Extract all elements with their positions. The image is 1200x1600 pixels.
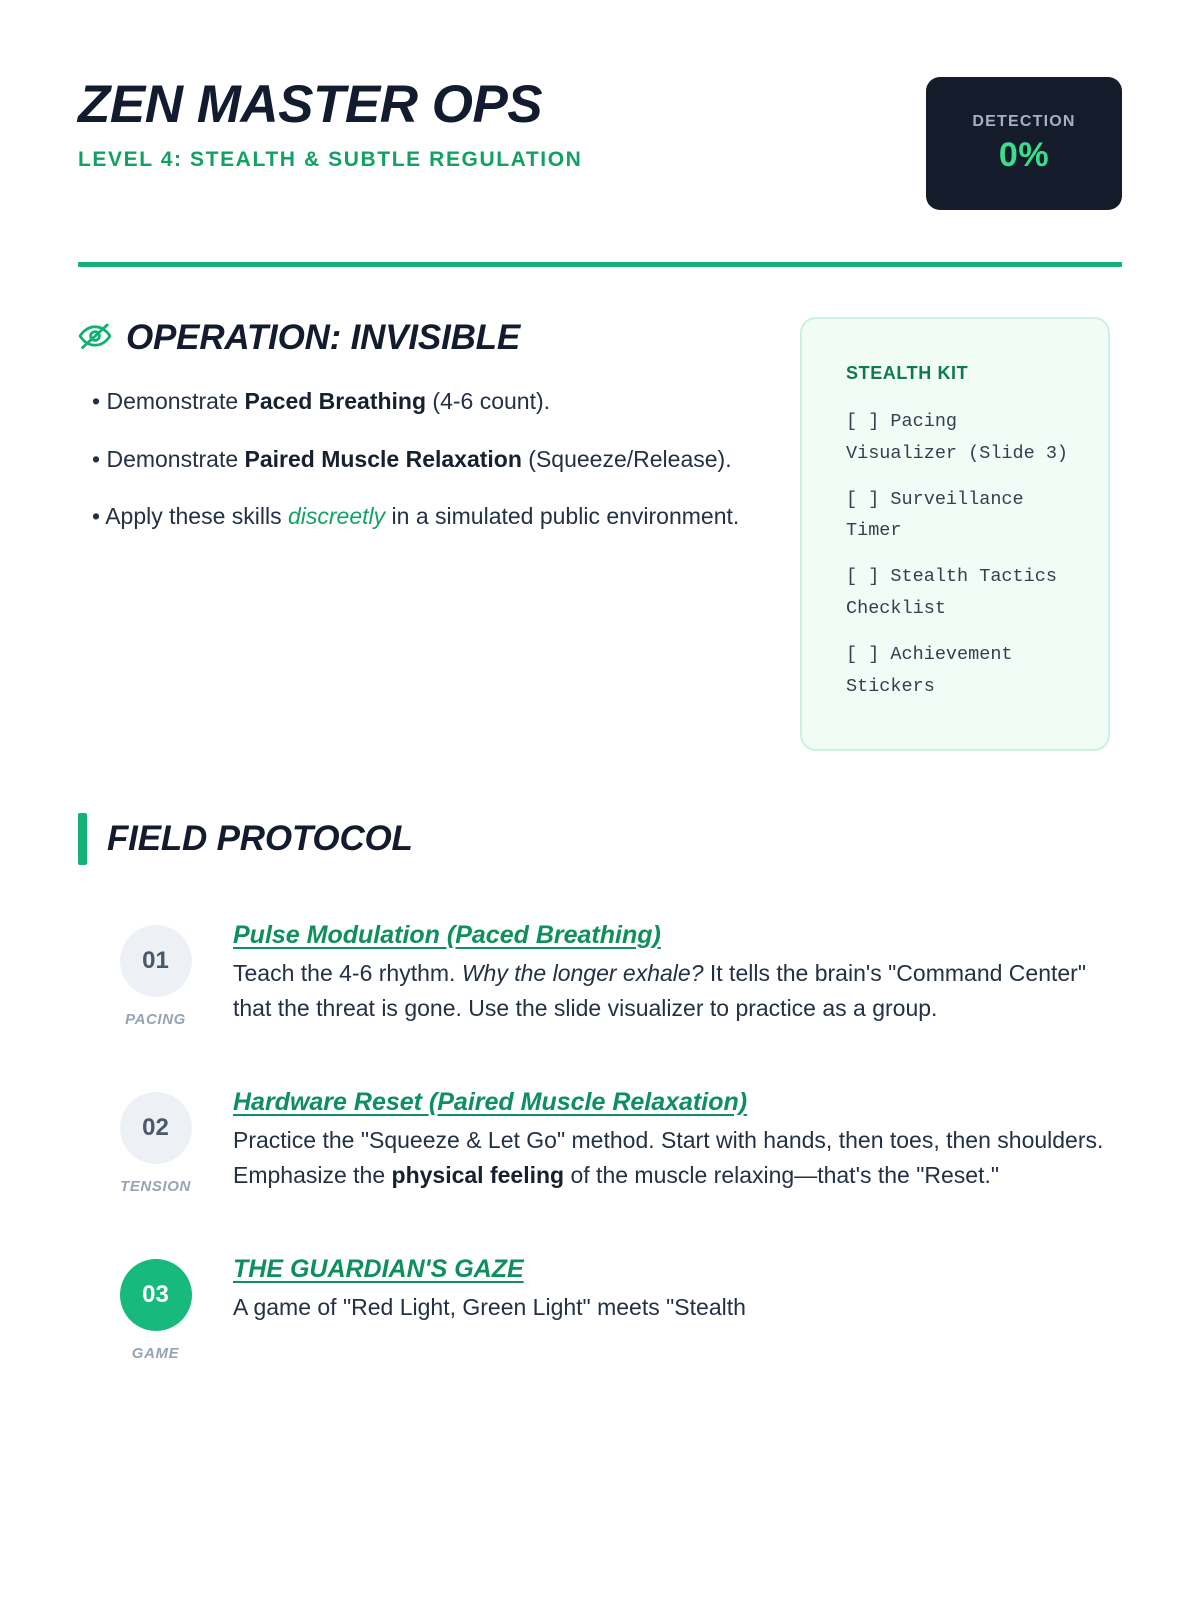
kit-checklist-item[interactable]: [ ] Stealth Tactics Checklist xyxy=(846,561,1072,625)
list-item: • Demonstrate Paired Muscle Relaxation (… xyxy=(78,442,768,478)
step-body: THE GUARDIAN'S GAZE A game of "Red Light… xyxy=(233,1253,1122,1326)
operation-header: OPERATION: INVISIBLE xyxy=(78,317,768,358)
step-description: A game of "Red Light, Green Light" meets… xyxy=(233,1290,1122,1326)
step-marker: 02 TENSION xyxy=(78,1086,233,1195)
step-description: Practice the "Squeeze & Let Go" method. … xyxy=(233,1123,1122,1195)
detection-value: 0% xyxy=(999,136,1049,175)
step-tag: TENSION xyxy=(120,1178,191,1195)
bullet-text-2b: (Squeeze/Release). xyxy=(522,446,732,472)
step-text-bold: physical feeling xyxy=(392,1162,565,1188)
page-header: ZEN MASTER OPS LEVEL 4: STEALTH & SUBTLE… xyxy=(78,0,1122,210)
bullet-dot: • xyxy=(92,503,100,529)
step-title[interactable]: Pulse Modulation (Paced Breathing) xyxy=(233,921,1122,950)
step-text-part: of the muscle relaxing—that's the "Reset… xyxy=(564,1162,999,1188)
step-marker: 01 PACING xyxy=(78,919,233,1028)
detection-badge: DETECTION 0% xyxy=(926,77,1122,210)
kit-checklist-item[interactable]: [ ] Pacing Visualizer (Slide 3) xyxy=(846,406,1072,470)
step-tag: GAME xyxy=(132,1345,179,1362)
protocol-step: 02 TENSION Hardware Reset (Paired Muscle… xyxy=(78,1086,1122,1195)
step-title[interactable]: Hardware Reset (Paired Muscle Relaxation… xyxy=(233,1088,1122,1117)
step-text-part: A game of "Red Light, Green Light" meets… xyxy=(233,1294,746,1320)
operation-main: OPERATION: INVISIBLE • Demonstrate Paced… xyxy=(78,317,768,557)
bullet-text-1b: (4-6 count). xyxy=(426,388,550,414)
stealth-kit-title: STEALTH KIT xyxy=(846,363,1072,384)
step-text-part: Teach the 4-6 rhythm. xyxy=(233,960,462,986)
operation-section: OPERATION: INVISIBLE • Demonstrate Paced… xyxy=(78,317,1122,751)
protocol-step: 01 PACING Pulse Modulation (Paced Breath… xyxy=(78,919,1122,1028)
step-number-badge: 02 xyxy=(120,1092,192,1164)
bullet-text-3: Apply these skills xyxy=(105,503,288,529)
step-body: Pulse Modulation (Paced Breathing) Teach… xyxy=(233,919,1122,1028)
step-tag: PACING xyxy=(125,1011,186,1028)
page-title: ZEN MASTER OPS xyxy=(78,78,582,132)
protocol-step: 03 GAME THE GUARDIAN'S GAZE A game of "R… xyxy=(78,1253,1122,1362)
detection-label: DETECTION xyxy=(972,113,1075,131)
list-item: • Demonstrate Paced Breathing (4-6 count… xyxy=(78,384,768,420)
bullet-strong-1: Paced Breathing xyxy=(245,388,427,414)
operation-title: OPERATION: INVISIBLE xyxy=(126,318,520,358)
protocol-step-list: 01 PACING Pulse Modulation (Paced Breath… xyxy=(78,919,1122,1362)
step-marker: 03 GAME xyxy=(78,1253,233,1362)
header-divider xyxy=(78,262,1122,267)
stealth-kit-card: STEALTH KIT [ ] Pacing Visualizer (Slide… xyxy=(800,317,1110,751)
page-subtitle: LEVEL 4: STEALTH & SUBTLE REGULATION xyxy=(78,148,582,172)
kit-checklist-item[interactable]: [ ] Achievement Stickers xyxy=(846,639,1072,703)
step-number-badge: 01 xyxy=(120,925,192,997)
eye-slash-icon xyxy=(78,319,112,358)
bullet-text-2: Demonstrate xyxy=(106,446,244,472)
step-description: Teach the 4-6 rhythm. Why the longer exh… xyxy=(233,956,1122,1028)
bullet-text-3b: in a simulated public environment. xyxy=(385,503,739,529)
step-body: Hardware Reset (Paired Muscle Relaxation… xyxy=(233,1086,1122,1195)
bullet-dot: • xyxy=(92,446,100,472)
bullet-strong-2: Paired Muscle Relaxation xyxy=(245,446,522,472)
header-titles: ZEN MASTER OPS LEVEL 4: STEALTH & SUBTLE… xyxy=(78,74,582,172)
field-protocol-title: FIELD PROTOCOL xyxy=(107,819,413,859)
bullet-text-1: Demonstrate xyxy=(106,388,244,414)
kit-checklist-item[interactable]: [ ] Surveillance Timer xyxy=(846,484,1072,548)
list-item: • Apply these skills discreetly in a sim… xyxy=(78,499,768,535)
objective-list: • Demonstrate Paced Breathing (4-6 count… xyxy=(78,384,768,535)
step-text-italic: Why the longer exhale? xyxy=(462,960,704,986)
field-protocol-header: FIELD PROTOCOL xyxy=(78,813,1122,865)
bullet-emphasis-3: discreetly xyxy=(288,503,385,529)
bullet-dot: • xyxy=(92,388,100,414)
step-number-badge-active: 03 xyxy=(120,1259,192,1331)
step-title[interactable]: THE GUARDIAN'S GAZE xyxy=(233,1255,1122,1284)
section-accent-bar xyxy=(78,813,87,865)
document-page: ZEN MASTER OPS LEVEL 4: STEALTH & SUBTLE… xyxy=(0,0,1200,1600)
